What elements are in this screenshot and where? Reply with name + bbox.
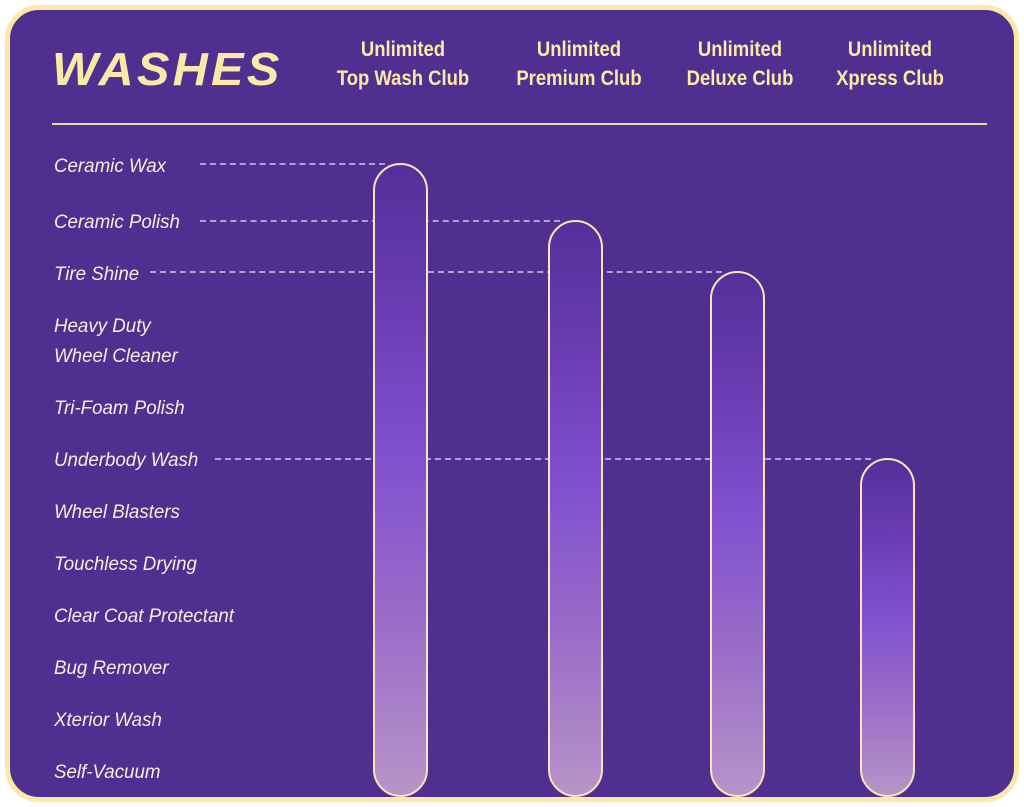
column-header-xpress-club: Unlimited Xpress Club [815, 36, 965, 94]
bar-deluxe-club[interactable] [710, 271, 765, 797]
page-title: WASHES [52, 42, 282, 96]
connector-line-ceramic-wax [200, 163, 385, 165]
column-header-line1: Unlimited [665, 36, 815, 65]
column-header-line1: Unlimited [328, 36, 478, 65]
feature-label-xterior-wash: Xterior Wash [54, 706, 162, 736]
column-header-line2: Top Wash Club [328, 65, 478, 94]
column-header-line2: Premium Club [504, 65, 654, 94]
bar-top-wash-club[interactable] [373, 163, 428, 797]
bar-premium-club[interactable] [548, 220, 603, 797]
column-header-premium-club: Unlimited Premium Club [504, 36, 654, 94]
column-header-line2: Deluxe Club [665, 65, 815, 94]
feature-label-heavy-duty-wheel-cleaner: Heavy Duty Wheel Cleaner [54, 312, 178, 371]
feature-label-tri-foam-polish: Tri-Foam Polish [54, 394, 185, 424]
feature-label-ceramic-polish: Ceramic Polish [54, 208, 180, 238]
feature-label-underbody-wash: Underbody Wash [54, 446, 198, 476]
comparison-card: WASHES Unlimited Top Wash Club Unlimited… [5, 5, 1019, 802]
card-header: WASHES Unlimited Top Wash Club Unlimited… [10, 10, 1014, 122]
column-header-line2: Xpress Club [815, 65, 965, 94]
connector-line-underbody-wash [215, 458, 871, 460]
feature-label-ceramic-wax: Ceramic Wax [54, 152, 166, 182]
feature-label-tire-shine: Tire Shine [54, 260, 139, 290]
feature-label-touchless-drying: Touchless Drying [54, 550, 197, 580]
feature-label-wheel-blasters: Wheel Blasters [54, 498, 180, 528]
column-header-top-wash-club: Unlimited Top Wash Club [328, 36, 478, 94]
connector-line-tire-shine [150, 271, 722, 273]
column-header-line1: Unlimited [815, 36, 965, 65]
bar-xpress-club[interactable] [860, 458, 915, 797]
column-header-deluxe-club: Unlimited Deluxe Club [665, 36, 815, 94]
feature-label-bug-remover: Bug Remover [54, 654, 168, 684]
column-header-line1: Unlimited [504, 36, 654, 65]
header-divider [52, 123, 987, 125]
feature-label-self-vacuum: Self-Vacuum [54, 758, 160, 788]
feature-label-clear-coat-protectant: Clear Coat Protectant [54, 602, 234, 632]
